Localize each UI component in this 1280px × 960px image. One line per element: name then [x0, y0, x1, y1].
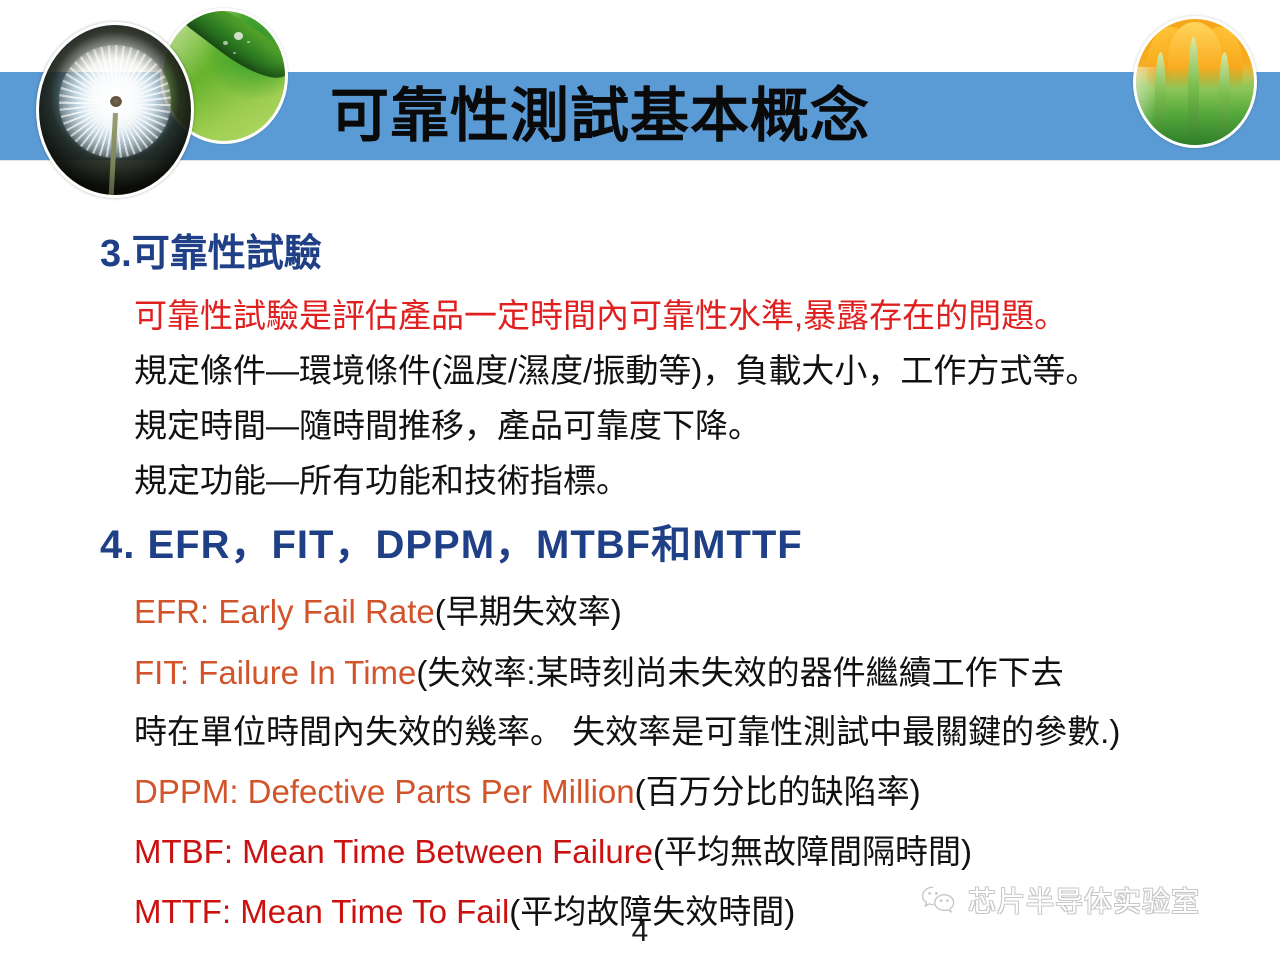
tulip-grass-blade	[1188, 37, 1199, 145]
definition-gloss: (百万分比的缺陷率)	[635, 773, 921, 810]
definition-gloss: 時在單位時間內失效的幾率。 失效率是可靠性測試中最關鍵的參數.)	[134, 713, 1120, 750]
section-3-heading: 3.可靠性試驗	[100, 222, 322, 277]
definition-gloss: (失效率:某時刻尚未失效的器件繼續工作下去	[416, 654, 1063, 691]
page-number: 4	[0, 915, 1280, 949]
definition-gloss: (平均無故障間隔時間)	[653, 833, 972, 870]
definition-mtbf: MTBF: Mean Time Between Failure(平均無故障間隔時…	[134, 825, 972, 873]
tulip-grass-blade	[1155, 52, 1166, 145]
section-4-heading: 4. EFR，FIT，DPPM，MTBF和MTTF	[100, 512, 803, 570]
definition-fit-continued: 時在單位時間內失效的幾率。 失效率是可靠性測試中最關鍵的參數.)	[134, 705, 1120, 753]
watermark: 芯片半导体实验室	[920, 880, 1200, 920]
section-3-line-4: 規定功能—所有功能和技術指標。	[134, 454, 629, 502]
definition-gloss: (早期失效率)	[435, 593, 622, 630]
section-3-line-2: 規定條件—環境條件(溫度/濕度/振動等)，負載大小，工作方式等。	[134, 344, 1098, 392]
definition-term: FIT: Failure In Time	[134, 654, 416, 691]
definition-term: EFR: Early Fail Rate	[134, 593, 435, 630]
definition-fit: FIT: Failure In Time(失效率:某時刻尚未失效的器件繼續工作下…	[134, 646, 1064, 694]
tulip-grass-blade	[1219, 52, 1230, 145]
definition-term: DPPM: Defective Parts Per Million	[134, 773, 635, 810]
slide-header: 可靠性測試基本概念	[0, 0, 1280, 200]
dandelion-icon	[36, 22, 194, 198]
section-3-line-3: 規定時間—隨時間推移，產品可靠度下降。	[134, 399, 761, 447]
watermark-text: 芯片半导体实验室	[968, 880, 1200, 920]
section-3-line-1: 可靠性試驗是評估產品一定時間內可靠性水準,暴露存在的問題。	[134, 289, 1067, 337]
page-title: 可靠性測試基本概念	[330, 74, 1030, 158]
wechat-icon	[920, 884, 958, 916]
definition-efr: EFR: Early Fail Rate(早期失效率)	[134, 585, 622, 633]
definition-term: MTBF: Mean Time Between Failure	[134, 833, 653, 870]
definition-dppm: DPPM: Defective Parts Per Million(百万分比的缺…	[134, 765, 921, 813]
tulip-icon	[1133, 16, 1257, 148]
